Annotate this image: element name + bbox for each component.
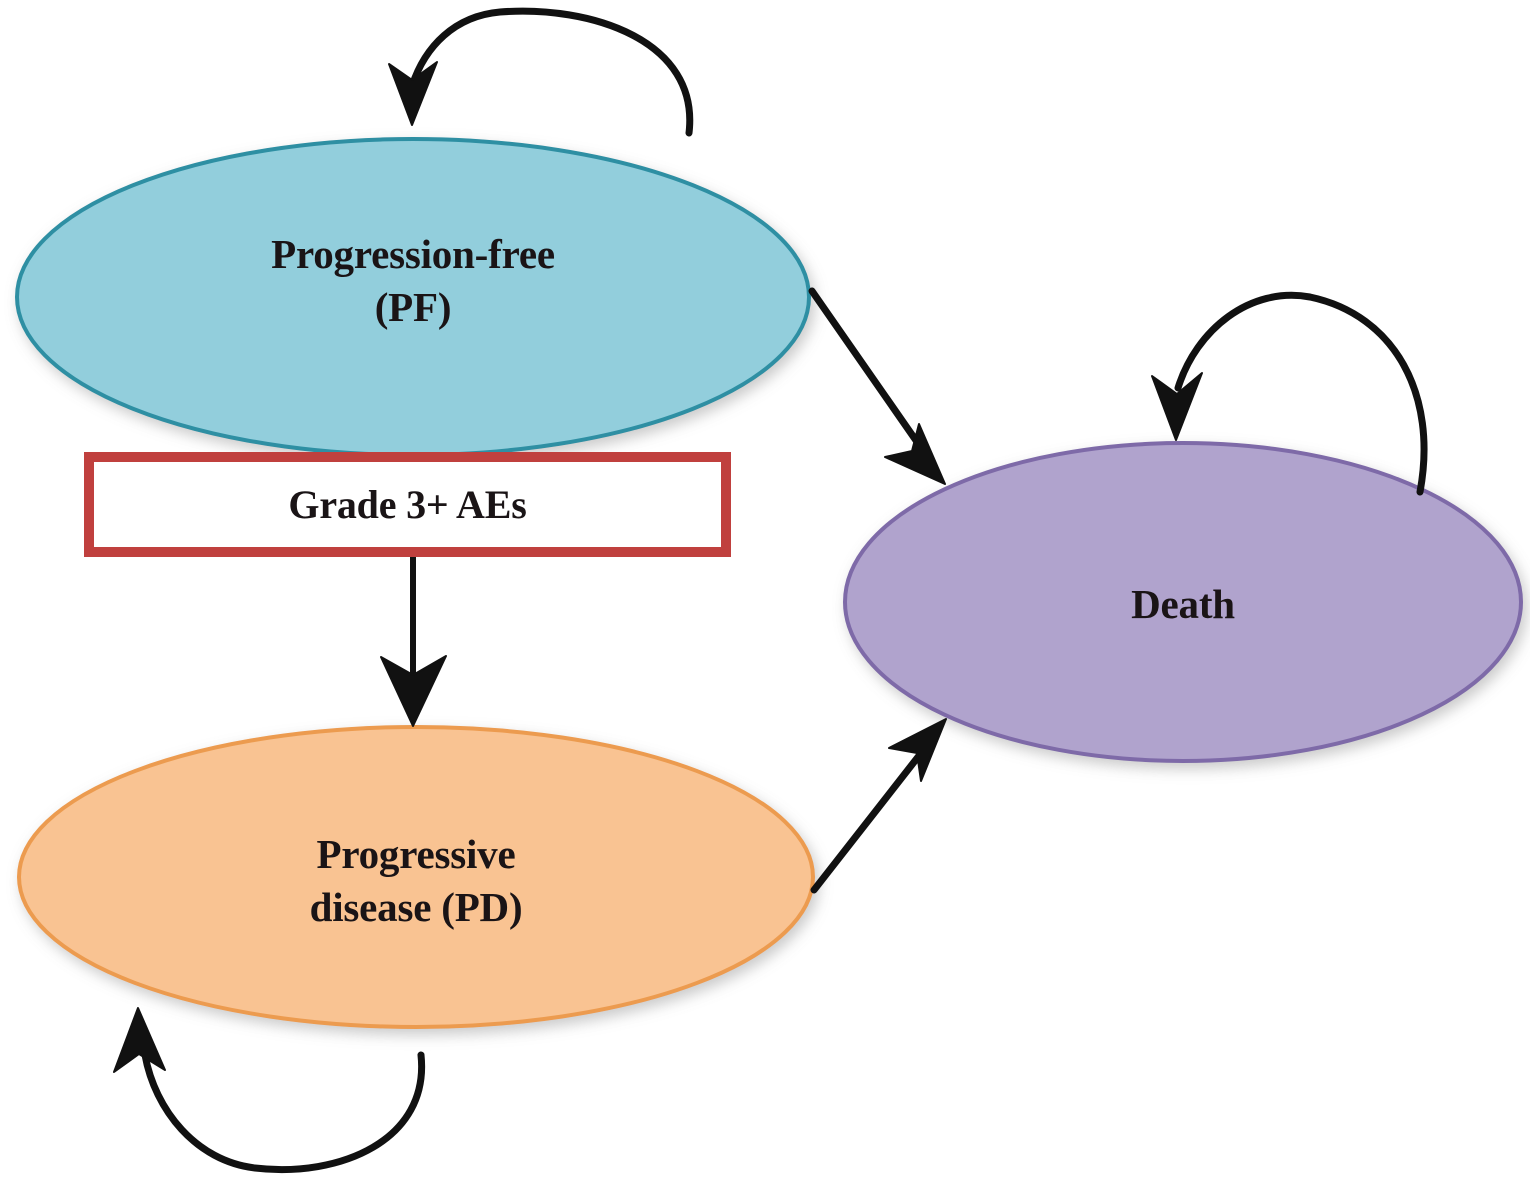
diagram-graphics xyxy=(0,0,1530,1181)
diagram-canvas: Progression-free (PF) Progressive diseas… xyxy=(0,0,1530,1181)
progressive-disease-ellipse[interactable] xyxy=(19,727,813,1027)
pd-self-loop-arrow xyxy=(114,1008,422,1170)
pf-self-loop-arrow xyxy=(389,11,690,133)
progression-free-ellipse[interactable] xyxy=(17,139,809,455)
grade-3-plus-aes-label: Grade 3+ AEs xyxy=(288,481,526,528)
pf-to-death-arrow xyxy=(812,291,945,484)
pf-to-pd-arrow xyxy=(381,557,446,726)
grade-3-plus-aes-box[interactable]: Grade 3+ AEs xyxy=(84,452,731,557)
pd-to-death-arrow xyxy=(814,719,946,890)
